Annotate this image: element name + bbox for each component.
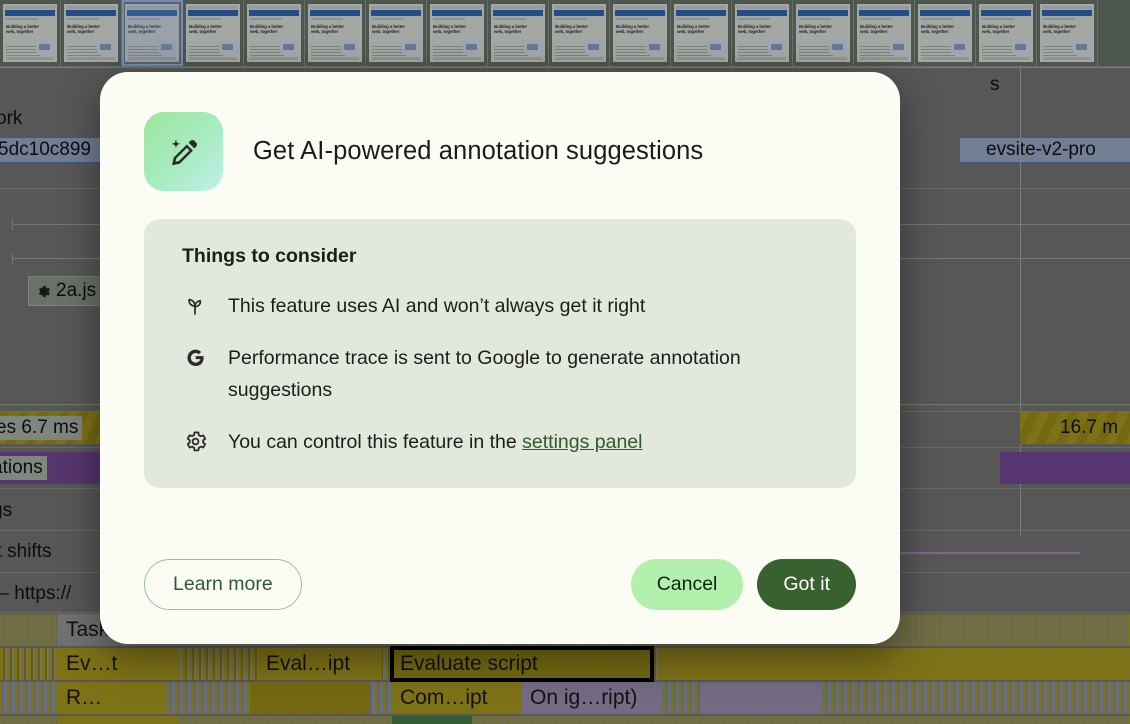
filmstrip-screenshot-image <box>36 40 54 53</box>
learn-more-button[interactable]: Learn more <box>144 559 302 610</box>
filmstrip-screenshot-image <box>768 40 786 53</box>
filmstrip-screenshot: Building a better web, together <box>247 4 301 62</box>
filmstrip-screenshot: Building a better web, together <box>674 4 728 62</box>
filmstrip-screenshot-image <box>280 40 298 53</box>
network-top-right-label: s <box>990 74 1000 96</box>
filmstrip-screenshot: Building a better web, together <box>979 4 1033 62</box>
filmstrip-screenshot-image <box>951 40 969 53</box>
filmstrip-screenshot-heading: Building a better web, together <box>616 24 650 35</box>
script-chip[interactable]: 2a.js <box>28 276 104 306</box>
filmstrip-frame[interactable]: Building a better web, together <box>1037 0 1098 66</box>
filmstrip-screenshot-image <box>402 40 420 53</box>
google-g-icon <box>182 344 208 370</box>
ai-annotation-consent-dialog: Get AI-powered annotation suggestions Th… <box>100 72 900 644</box>
network-request-left-label: 5dc10c899 <box>0 139 91 161</box>
filmstrip-frame[interactable]: Building a better web, together <box>488 0 549 66</box>
filmstrip-screenshot-heading: Building a better web, together <box>494 24 528 35</box>
flame-block-onignore[interactable]: On ig…ript) <box>522 682 662 714</box>
filmstrip-frame[interactable]: Building a better web, together <box>0 0 61 66</box>
filmstrip-screenshot: Building a better web, together <box>796 4 850 62</box>
filmstrip-screenshot: Building a better web, together <box>918 4 972 62</box>
timing-bar-left-label: es 6.7 ms <box>0 416 82 440</box>
filmstrip-screenshot: Building a better web, together <box>430 4 484 62</box>
filmstrip-screenshot-heading: Building a better web, together <box>433 24 467 35</box>
filmstrip-screenshot-image <box>829 40 847 53</box>
filmstrip-screenshot-heading: Building a better web, together <box>1043 24 1077 35</box>
filmstrip-screenshot-heading: Building a better web, together <box>860 24 894 35</box>
filmstrip-screenshot-image <box>219 40 237 53</box>
gear-icon <box>36 284 51 299</box>
flame-block-selected-label: Evaluate script <box>400 652 538 676</box>
filmstrip-screenshot-heading: Building a better web, together <box>6 24 40 35</box>
dialog-footer: Learn more Cancel Got it <box>144 537 856 644</box>
filmstrip-screenshot: Building a better web, together <box>186 4 240 62</box>
filmstrip-screenshot: Building a better web, together <box>857 4 911 62</box>
consideration-item-ai-accuracy: This feature uses AI and won’t always ge… <box>182 290 818 322</box>
filmstrip-screenshot-heading: Building a better web, together <box>921 24 955 35</box>
filmstrip-screenshot-heading: Building a better web, together <box>311 24 345 35</box>
filmstrip-screenshot: Building a better web, together <box>735 4 789 62</box>
consideration-item-settings-text: You can control this feature in the sett… <box>228 426 642 458</box>
filmstrip-screenshot-image <box>341 40 359 53</box>
filmstrip-screenshot-image <box>463 40 481 53</box>
filmstrip-screenshot-image <box>707 40 725 53</box>
filmstrip-frame[interactable]: Building a better web, together <box>183 0 244 66</box>
filmstrip-frame[interactable]: Building a better web, together <box>61 0 122 66</box>
filmstrip-frame[interactable]: Building a better web, together <box>427 0 488 66</box>
timing-bar-right[interactable]: 16.7 m <box>1020 412 1130 444</box>
filmstrip-screenshot-heading: Building a better web, together <box>189 24 223 35</box>
considerations-panel: Things to consider This feature uses AI … <box>144 219 856 488</box>
filmstrip-frame-selected[interactable] <box>122 0 183 66</box>
network-section-label: ork <box>0 108 22 130</box>
filmstrip-screenshot-heading: Building a better web, together <box>799 24 833 35</box>
timings-track-label: gs <box>0 500 12 522</box>
filmstrip-screenshot-heading: Building a better web, together <box>250 24 284 35</box>
consideration-item-data-sent: Performance trace is sent to Google to g… <box>182 342 818 406</box>
filmstrip-frame[interactable]: Building a better web, together <box>793 0 854 66</box>
got-it-button[interactable]: Got it <box>757 559 856 610</box>
animations-track-label: ations <box>0 456 47 480</box>
filmstrip-screenshot-heading: Building a better web, together <box>67 24 101 35</box>
consideration-item-data-sent-text: Performance trace is sent to Google to g… <box>228 342 818 406</box>
layout-shifts-track-label: ut shifts <box>0 541 51 563</box>
filmstrip-frame[interactable]: Building a better web, together <box>549 0 610 66</box>
filmstrip-frame[interactable]: Building a better web, together <box>915 0 976 66</box>
timing-bar-right-label: 16.7 m <box>1060 417 1118 439</box>
filmstrip-screenshot-image <box>585 40 603 53</box>
filmstrip-screenshot: Building a better web, together <box>491 4 545 62</box>
url-track-label: — https:// <box>0 583 71 605</box>
cancel-button[interactable]: Cancel <box>631 559 744 610</box>
filmstrip-frame[interactable]: Building a better web, together <box>732 0 793 66</box>
filmstrip-frame[interactable]: Building a better web, together <box>854 0 915 66</box>
filmstrip-screenshot: Building a better web, together <box>64 4 118 62</box>
filmstrip-screenshot-image <box>890 40 908 53</box>
filmstrip-screenshot-image <box>524 40 542 53</box>
sprout-icon <box>182 292 208 318</box>
consideration-item-settings: You can control this feature in the sett… <box>182 426 818 458</box>
flame-block-compile[interactable]: Com…ipt <box>392 682 522 714</box>
gear-icon <box>182 428 208 454</box>
flame-block-compile-label: Com…ipt <box>400 686 488 710</box>
animations-track-right[interactable] <box>1000 452 1130 484</box>
dialog-title: Get AI-powered annotation suggestions <box>253 137 703 166</box>
filmstrip-frame[interactable]: Building a better web, together <box>244 0 305 66</box>
filmstrip-screenshot-image <box>646 40 664 53</box>
flame-block-selected[interactable]: Evaluate script <box>392 648 652 680</box>
filmstrip-screenshot-heading: Building a better web, together <box>372 24 406 35</box>
consideration-item-settings-prefix: You can control this feature in the <box>228 431 522 453</box>
filmstrip-screenshot: Building a better web, together <box>3 4 57 62</box>
filmstrip-screenshot-image <box>1012 40 1030 53</box>
considerations-heading: Things to consider <box>182 245 818 268</box>
filmstrip-frame[interactable]: Building a better web, together <box>366 0 427 66</box>
dialog-header: Get AI-powered annotation suggestions <box>144 112 856 191</box>
filmstrip-track[interactable]: Building a better web, togetherBuilding … <box>0 0 1130 66</box>
filmstrip-screenshot-image <box>1073 40 1091 53</box>
filmstrip-screenshot: Building a better web, together <box>613 4 667 62</box>
filmstrip-screenshot-heading: Building a better web, together <box>738 24 772 35</box>
script-chip-label: 2a.js <box>56 280 96 302</box>
network-request-right-label: evsite-v2-pro <box>960 139 1096 161</box>
filmstrip-screenshot: Building a better web, together <box>369 4 423 62</box>
consideration-item-ai-accuracy-text: This feature uses AI and won’t always ge… <box>228 290 645 322</box>
filmstrip-screenshot: Building a better web, together <box>552 4 606 62</box>
settings-panel-link[interactable]: settings panel <box>522 431 642 453</box>
filmstrip-frame[interactable]: Building a better web, together <box>305 0 366 66</box>
filmstrip-frame[interactable]: Building a better web, together <box>610 0 671 66</box>
flame-block-onignore-label: On ig…ript) <box>530 686 637 710</box>
filmstrip-screenshot-image <box>97 40 115 53</box>
filmstrip-frame[interactable]: Building a better web, together <box>671 0 732 66</box>
filmstrip-screenshot: Building a better web, together <box>1040 4 1094 62</box>
filmstrip-frame[interactable]: Building a better web, together <box>976 0 1037 66</box>
filmstrip-screenshot-heading: Building a better web, together <box>982 24 1016 35</box>
network-request-right[interactable]: evsite-v2-pro <box>960 137 1130 163</box>
filmstrip-screenshot-heading: Building a better web, together <box>555 24 589 35</box>
footer-actions: Cancel Got it <box>631 559 856 610</box>
magic-pencil-icon <box>144 112 223 191</box>
filmstrip-screenshot: Building a better web, together <box>308 4 362 62</box>
filmstrip-screenshot-heading: Building a better web, together <box>677 24 711 35</box>
